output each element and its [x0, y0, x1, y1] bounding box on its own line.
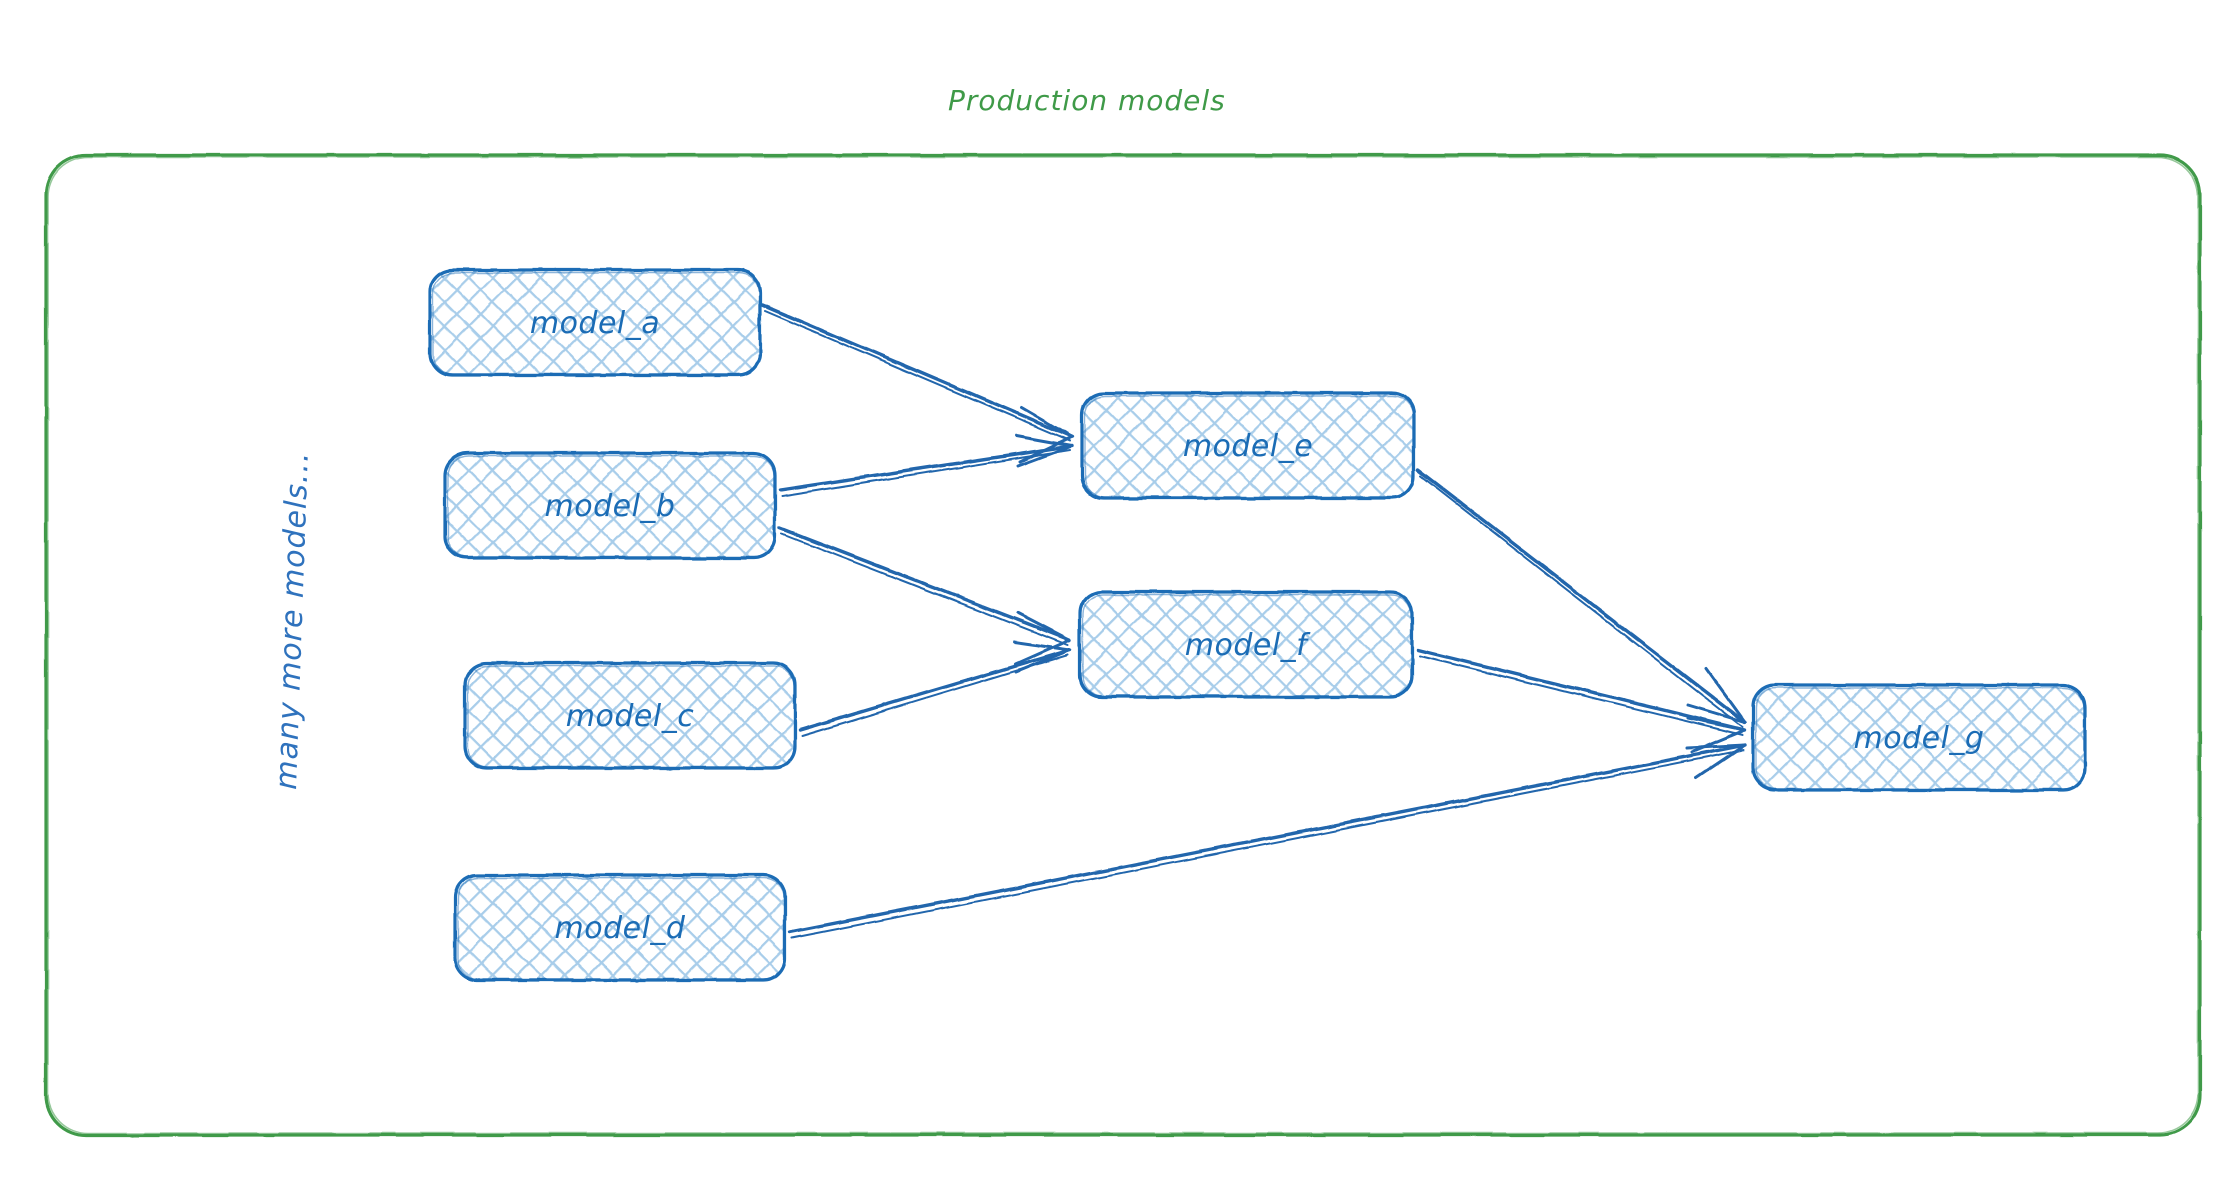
- node-label-model-a: model_a: [530, 306, 660, 341]
- diagram-canvas: Production models many more models...: [0, 0, 2240, 1188]
- node-model-g[interactable]: model_g: [1753, 685, 2085, 790]
- node-model-f[interactable]: model_f: [1080, 592, 1412, 697]
- node-model-b[interactable]: model_b: [445, 453, 775, 558]
- node-label-model-b: model_b: [545, 489, 676, 524]
- node-label-model-d: model_d: [555, 911, 686, 946]
- node-label-model-g: model_g: [1854, 721, 1985, 756]
- node-label-model-e: model_e: [1183, 429, 1313, 464]
- node-model-c[interactable]: model_c: [465, 663, 795, 768]
- many-more-models-note: many more models...: [269, 451, 316, 790]
- node-label-model-f: model_f: [1185, 628, 1311, 663]
- node-model-d[interactable]: model_d: [455, 875, 785, 980]
- node-model-a[interactable]: model_a: [430, 270, 760, 375]
- svg-text:many more models...: many more models...: [269, 451, 316, 790]
- container-title: Production models: [948, 84, 1226, 117]
- edge-model-c-to-model-f: [800, 642, 1070, 736]
- lineage-diagram: Production models many more models...: [0, 0, 2240, 1188]
- edge-model-f-to-model-g: [1418, 650, 1745, 752]
- edge-model-d-to-model-g: [790, 745, 1745, 938]
- node-label-model-c: model_c: [566, 699, 694, 734]
- edge-model-b-to-model-e: [780, 436, 1072, 496]
- node-model-e[interactable]: model_e: [1082, 393, 1414, 498]
